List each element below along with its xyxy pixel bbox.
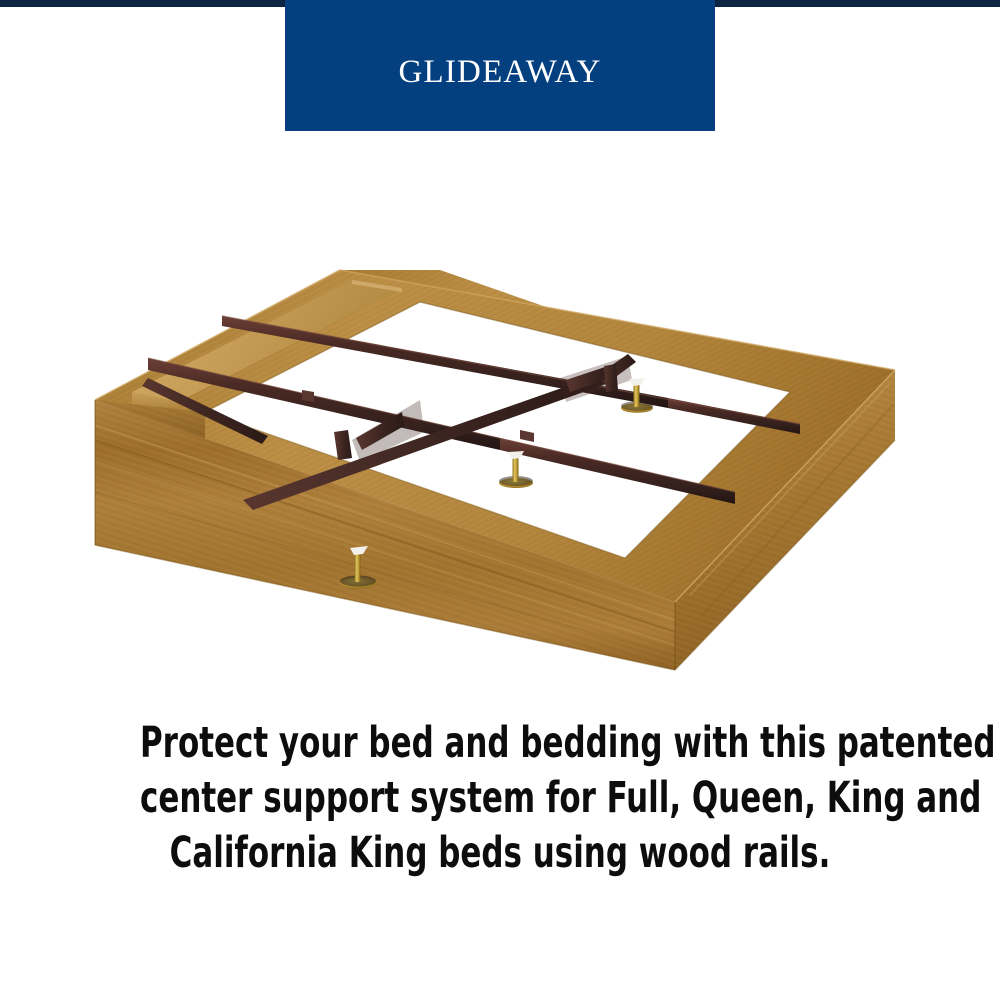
glideaway-logo-wordmark: Glideaway xyxy=(398,40,601,91)
caption-text: Protect your bed and bedding with this p… xyxy=(140,716,860,881)
product-image-canvas: Glideaway xyxy=(0,0,1000,1000)
product-photo xyxy=(0,140,1000,700)
caption-line-1: Protect your bed and bedding with this p… xyxy=(140,716,860,771)
brand-banner: Glideaway xyxy=(285,0,715,131)
caption-line-2: center support system for Full, Queen, K… xyxy=(140,771,860,826)
caption-line-3: California King beds using wood rails. xyxy=(140,826,860,881)
bed-frame-illustration xyxy=(0,140,1000,700)
